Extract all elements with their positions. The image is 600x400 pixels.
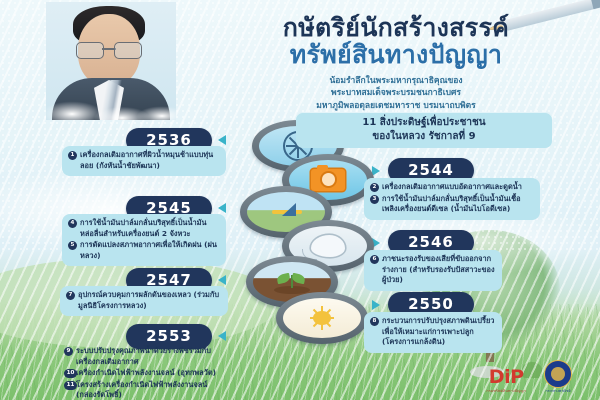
subtitle-block: น้อมรำลึกในพระมหากรุณาธิคุณของ พระบาทสมเ… <box>198 75 594 112</box>
dip-logo: DiP กรมทรัพย์สินทางปัญญา <box>486 368 526 394</box>
card-2544: 2 เครื่องกลเติมอากาศแบบอัดอากาศและดูดน้ำ… <box>364 178 540 220</box>
pod-solar-power <box>276 292 368 344</box>
item-text: กระบวนการปรับปรุงสภาพดินเปรี้ยวเพื่อให้เ… <box>382 316 494 346</box>
card-2545: 4 การใช้น้ำมันปาล์มกลั่นบริสุทธิ์เป็นน้ำ… <box>62 214 226 266</box>
item-number: 2 <box>370 183 379 192</box>
item-text: การใช้น้ำมันปาล์มกลั่นบริสุทธิ์เป็นน้ำมั… <box>80 218 207 238</box>
solar-power-icon <box>283 298 361 338</box>
list-item: 3 การใช้น้ำมันปาล์มกลั่นบริสุทธิ์เป็นน้ำ… <box>370 194 534 215</box>
list-item: 1 เครื่องกลเติมอากาศที่ผิวน้ำหมุนช้าแบบท… <box>68 150 220 171</box>
page-title-line1: กษัตริย์นักสร้างสรรค์ <box>198 14 594 41</box>
arrow-icon-2545 <box>218 203 226 213</box>
item-number: 5 <box>68 241 77 250</box>
item-text: ระบบปรับปรุงคุณภาพน้ำด้วยรางพืชร่วมกับเค… <box>76 346 211 366</box>
item-text: ภาชนะรองรับของเสียที่ขับออกจากร่างกาย (ส… <box>382 254 495 284</box>
card-2536: 1 เครื่องกลเติมอากาศที่ผิวน้ำหมุนช้าแบบท… <box>62 146 226 176</box>
banner-line2: ของในหลวง รัชกาลที่ 9 <box>304 130 544 144</box>
list-item: 10 เครื่องกำเนิดไฟฟ้าพลังงานจลน์ (อุทกพล… <box>64 368 226 379</box>
item-text: เครื่องกลเติมอากาศที่ผิวน้ำหมุนช้าแบบทุ่… <box>80 150 213 170</box>
list-item: 2 เครื่องกลเติมอากาศแบบอัดอากาศและดูดน้ำ <box>370 182 534 193</box>
dip-logo-mark: DiP <box>486 368 526 387</box>
banner-line1: 11 สิ่งประดิษฐ์เพื่อประชาชน <box>304 116 544 130</box>
portrait-glasses-icon <box>76 42 142 57</box>
item-number: 7 <box>66 291 75 300</box>
item-text: การใช้น้ำมันปาล์มกลั่นบริสุทธิ์เป็นน้ำมั… <box>382 194 521 214</box>
list-item: 7 อุปกรณ์ควบคุมการผลักดันของเหลว (ร่วมกั… <box>66 290 222 311</box>
card-2546: 6 ภาชนะรองรับของเสียที่ขับออกจากร่างกาย … <box>364 250 502 291</box>
subtitle-line2: พระบาทสมเด็จพระบรมชนกาธิเบศร <box>198 87 594 99</box>
arrow-icon-2547 <box>218 275 226 285</box>
list-item: 8 กระบวนการปรับปรุงสภาพดินเปรี้ยวเพื่อให… <box>370 316 496 348</box>
item-number: 9 <box>64 347 73 356</box>
list-item: 6 ภาชนะรองรับของเสียที่ขับออกจากร่างกาย … <box>370 254 496 286</box>
seal-caption: กระทรวงพาณิชย์ <box>544 389 572 394</box>
item-text: เครื่องกลเติมอากาศแบบอัดอากาศและดูดน้ำ <box>382 182 522 191</box>
item-number: 10 <box>64 369 77 378</box>
page-title-line2: ทรัพย์สินทางปัญญา <box>198 41 594 69</box>
seal-emblem-icon <box>544 360 572 388</box>
icon-chain <box>236 120 376 370</box>
item-number: 3 <box>370 195 379 204</box>
ministry-seal-logo: กระทรวงพาณิชย์ <box>544 360 572 394</box>
list-item: 9 ระบบปรับปรุงคุณภาพน้ำด้วยรางพืชร่วมกับ… <box>64 346 226 367</box>
item-text: เครื่องกำเนิดไฟฟ้าพลังงานจลน์ (อุทกพลวัต… <box>76 368 216 377</box>
dip-logo-caption: กรมทรัพย์สินทางปัญญา <box>486 388 526 394</box>
item-number: 6 <box>370 255 379 264</box>
headline-banner: 11 สิ่งประดิษฐ์เพื่อประชาชน ของในหลวง รั… <box>296 112 552 148</box>
item-number: 1 <box>68 151 77 160</box>
subtitle-line3: มหาภูมิพลอดุลยเดชมหาราช บรมนาถบพิตร <box>198 100 594 112</box>
king-portrait-photo <box>46 2 176 120</box>
item-text: โครงสร้างเครื่องกำเนิดไฟฟ้าพลังงานจลน์ (… <box>76 380 207 400</box>
subtitle-line1: น้อมรำลึกในพระมหากรุณาธิคุณของ <box>198 75 594 87</box>
list-item: 4 การใช้น้ำมันปาล์มกลั่นบริสุทธิ์เป็นน้ำ… <box>68 218 220 239</box>
card-2547: 7 อุปกรณ์ควบคุมการผลักดันของเหลว (ร่วมกั… <box>60 286 228 316</box>
card-2553: 9 ระบบปรับปรุงคุณภาพน้ำด้วยรางพืชร่วมกับ… <box>58 342 232 400</box>
item-number: 4 <box>68 219 77 228</box>
arrow-icon-2536 <box>218 135 226 145</box>
card-2550: 8 กระบวนการปรับปรุงสภาพดินเปรี้ยวเพื่อให… <box>364 312 502 353</box>
logo-row: DiP กรมทรัพย์สินทางปัญญา กระทรวงพาณิชย์ <box>486 360 572 394</box>
item-text: การดัดแปลงสภาพอากาศเพื่อให้เกิดฝน (ฝนหลว… <box>80 240 217 260</box>
item-text: อุปกรณ์ควบคุมการผลักดันของเหลว (ร่วมกับ … <box>78 290 219 310</box>
headline-block: กษัตริย์นักสร้างสรรค์ ทรัพย์สินทางปัญญา … <box>198 14 594 112</box>
list-item: 11 โครงสร้างเครื่องกำเนิดไฟฟ้าพลังงานจลน… <box>64 380 226 400</box>
portrait-clouds <box>46 92 176 120</box>
list-item: 5 การดัดแปลงสภาพอากาศเพื่อให้เกิดฝน (ฝนห… <box>68 240 220 261</box>
item-number: 8 <box>370 317 379 326</box>
arrow-icon-2553 <box>218 331 226 341</box>
item-number: 11 <box>64 381 77 390</box>
infographic-poster: กษัตริย์นักสร้างสรรค์ ทรัพย์สินทางปัญญา … <box>0 0 600 400</box>
